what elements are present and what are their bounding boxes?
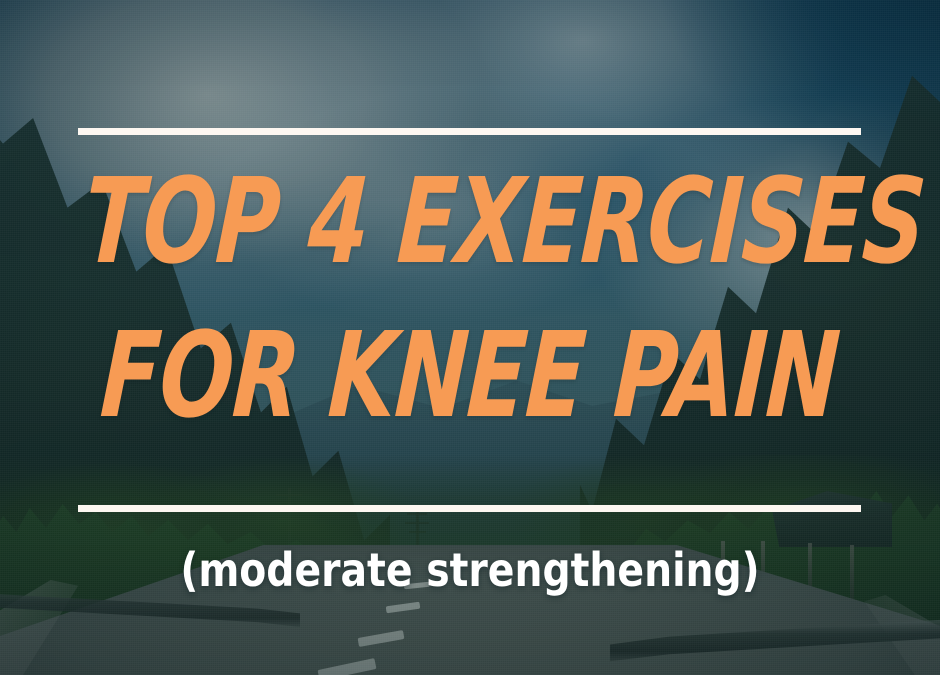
headline-line-2: FOR KNEE PAIN (82, 322, 859, 428)
divider-rule-top (78, 128, 861, 135)
poster-content: TOP 4 EXERCISES FOR KNEE PAIN (moderate … (0, 0, 940, 675)
poster-canvas: TOP 4 EXERCISES FOR KNEE PAIN (moderate … (0, 0, 940, 675)
headline-line-1: TOP 4 EXERCISES (82, 168, 859, 274)
subheadline: (moderate strengthening) (24, 546, 917, 594)
divider-rule-bottom (78, 505, 861, 512)
